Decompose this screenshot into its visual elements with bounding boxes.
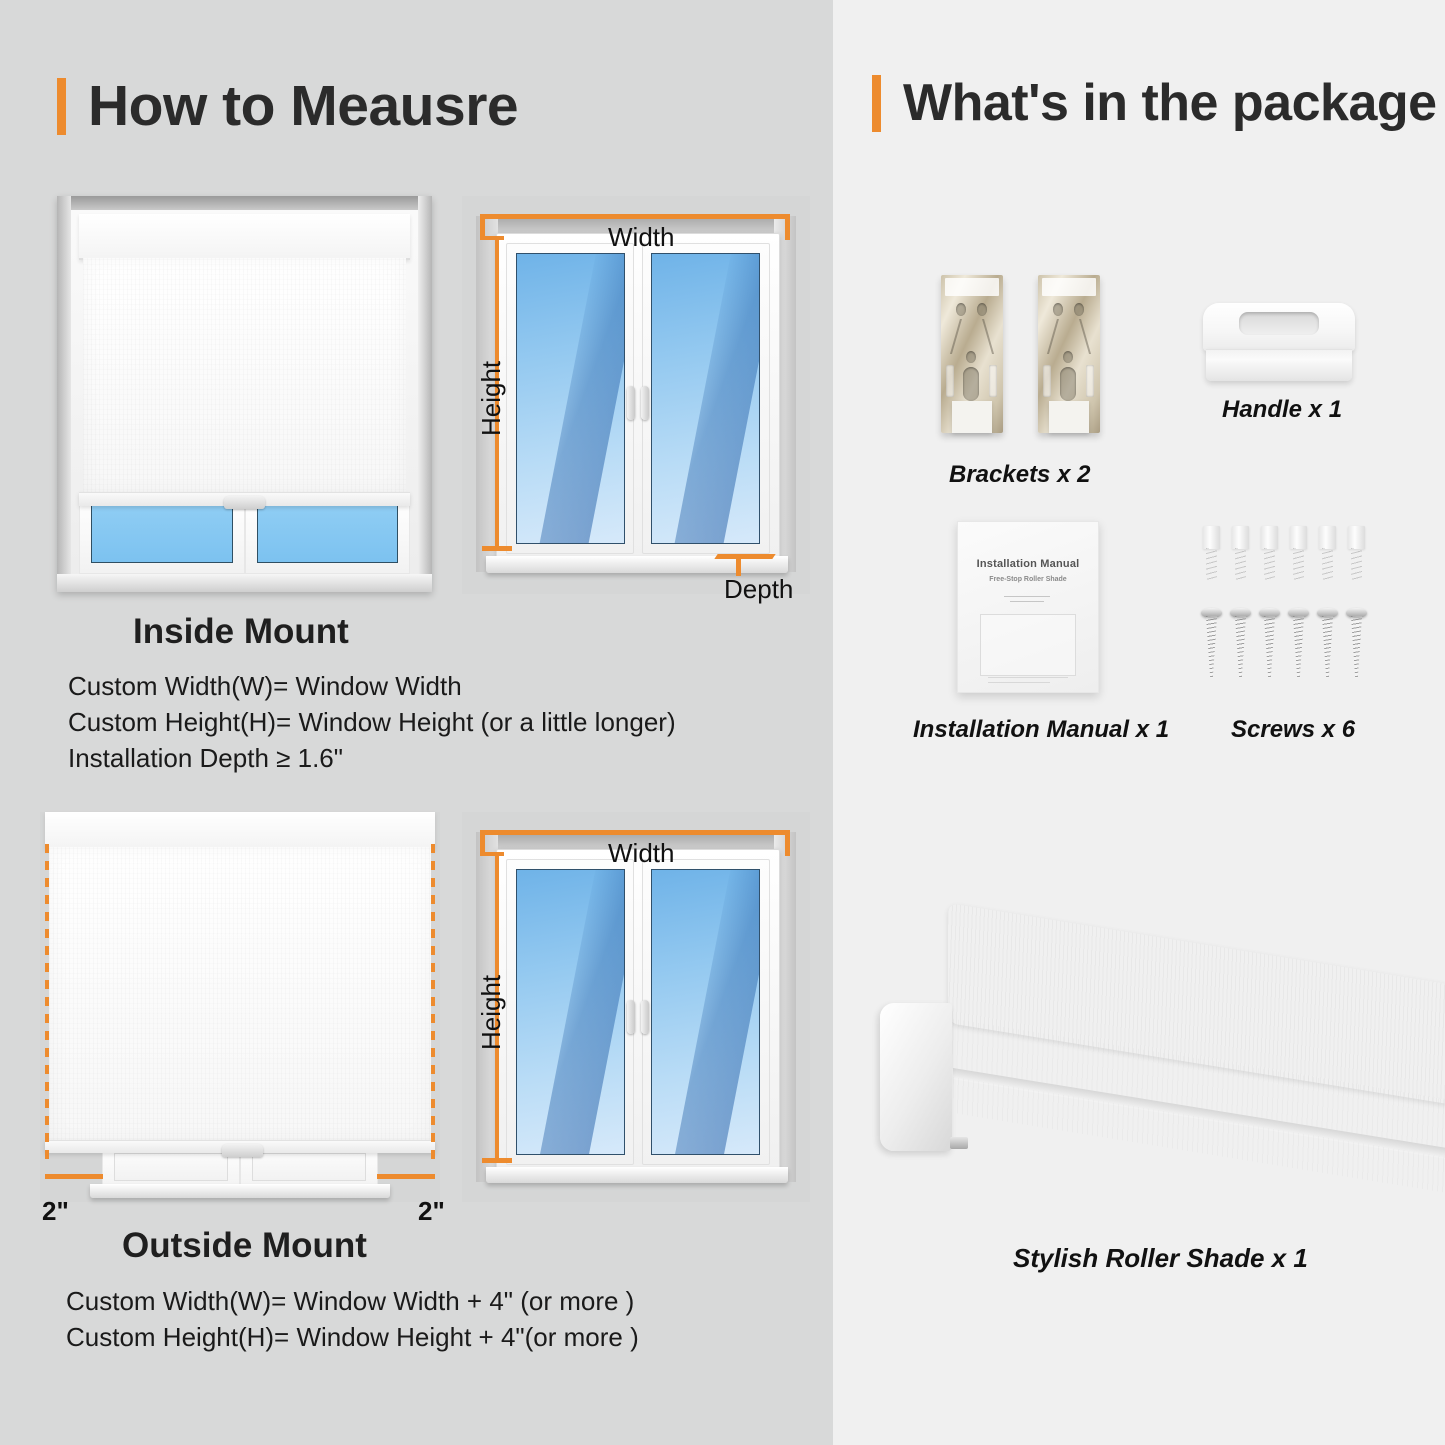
outside-mount-spec-1: Custom Width(W)= Window Width + 4" (or m… [66, 1286, 634, 1317]
inside-mount-shade-illustration [57, 196, 432, 592]
height-label: Height [476, 975, 507, 1050]
shade-pull-handle [222, 1144, 263, 1157]
shade-fabric [49, 847, 431, 1144]
manual-icon: Installation Manual Free-Stop Roller Sha… [957, 521, 1099, 693]
inside-mount-spec-3: Installation Depth ≥ 1.6" [68, 743, 343, 774]
window-handle-left [627, 386, 635, 420]
window-handle-right [641, 386, 649, 420]
infographic-page: How to Meausre [0, 0, 1445, 1445]
manual-cover-title: Installation Manual [969, 558, 1087, 570]
overhang-left-label: 2" [42, 1196, 69, 1227]
depth-measure-bar [714, 554, 775, 559]
outside-mount-title: Outside Mount [122, 1226, 367, 1266]
package-title: What's in the package [903, 73, 1437, 133]
window-handle-left [627, 1000, 635, 1034]
page-title: How to Meausre [88, 73, 518, 139]
handle-icon [1203, 303, 1355, 381]
bracket-icon [1038, 275, 1100, 433]
overhang-guide-right [431, 844, 435, 1162]
shade-headrail [79, 214, 410, 260]
width-measure-bar [482, 214, 790, 219]
depth-label: Depth [724, 574, 793, 605]
width-measure-bar [482, 830, 790, 835]
accent-bar-icon [57, 78, 66, 135]
inside-mount-spec-1: Custom Width(W)= Window Width [68, 671, 462, 702]
outside-mount-spec-2: Custom Height(H)= Window Height + 4"(or … [66, 1322, 639, 1353]
outside-mount-shade-illustration [40, 812, 440, 1202]
inside-mount-window-diagram: Width Height Depth [462, 196, 810, 594]
overhang-guide-left [45, 844, 49, 1162]
shade-headrail [45, 812, 435, 849]
width-label: Width [608, 838, 674, 869]
screw-icon [1203, 526, 1369, 692]
height-label: Height [476, 361, 507, 436]
manual-cover-subtitle: Free-Stop Roller Shade [969, 576, 1087, 583]
roller-shade-label: Stylish Roller Shade x 1 [1013, 1243, 1308, 1274]
inside-mount-title: Inside Mount [133, 612, 349, 652]
shade-fabric [83, 258, 406, 495]
brackets-label: Brackets x 2 [949, 461, 1090, 489]
right-panel-heading: What's in the package [872, 73, 1437, 133]
window-handle-right [641, 1000, 649, 1034]
bracket-icon [941, 275, 1003, 433]
inside-mount-spec-2: Custom Height(H)= Window Height (or a li… [68, 707, 676, 738]
outside-mount-window-diagram: Width Height [462, 812, 810, 1202]
window-sash-left [79, 496, 245, 574]
accent-bar-icon [872, 75, 881, 132]
roller-shade-icon [853, 885, 1445, 1185]
package-contents-panel: What's in the package [833, 0, 1445, 1445]
manual-label: Installation Manual x 1 [913, 716, 1169, 744]
screws-label: Screws x 6 [1231, 716, 1355, 744]
window-sash-right [245, 496, 411, 574]
how-to-measure-panel: How to Meausre [0, 0, 833, 1445]
handle-label: Handle x 1 [1222, 396, 1342, 424]
overhang-right-label: 2" [418, 1196, 445, 1227]
left-panel-heading: How to Meausre [57, 73, 518, 139]
shade-pull-handle [224, 496, 265, 509]
width-label: Width [608, 222, 674, 253]
